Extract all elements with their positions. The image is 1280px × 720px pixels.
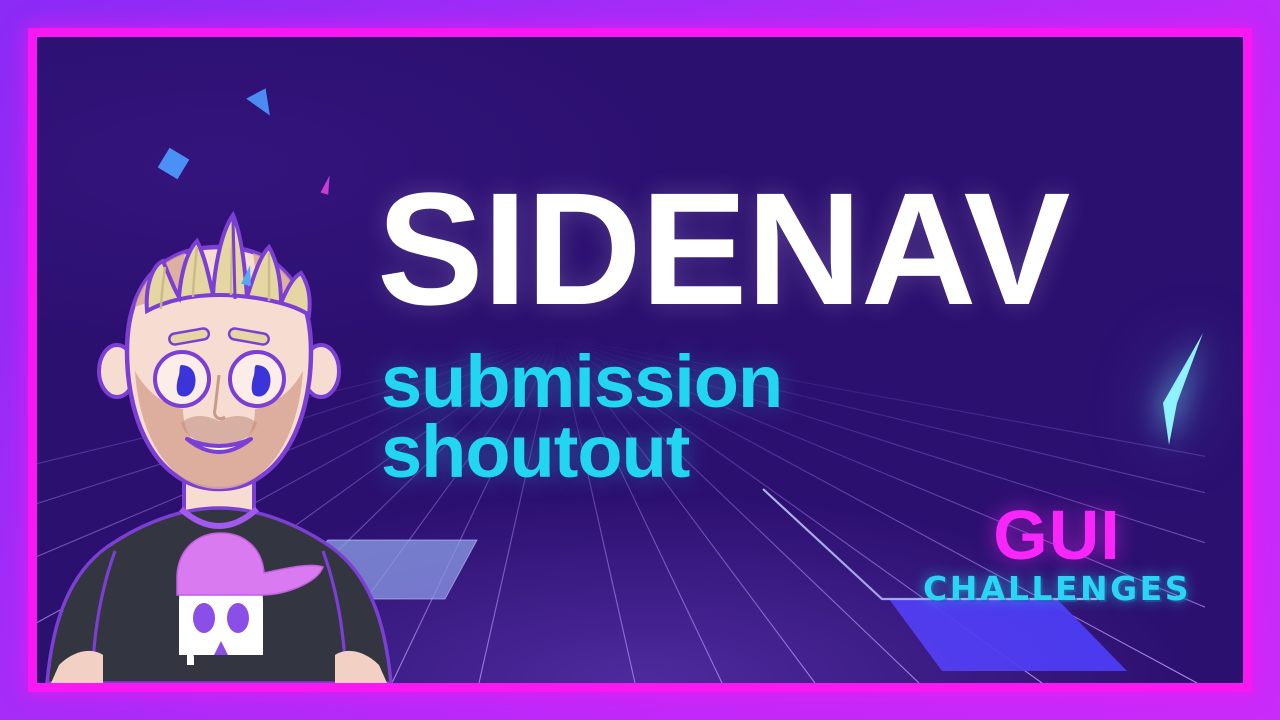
subtitle-line-2: shoutout [381,417,782,487]
neon-frame-border: SIDENAV submission shoutout GUI CHALLENG… [28,28,1252,692]
thumbnail-stage: SIDENAV submission shoutout GUI CHALLENG… [0,0,1280,720]
avatar-eye-left [155,352,209,406]
subtitle-line-1: submission [381,347,782,417]
lightning-shard-icon [1147,325,1217,455]
avatar-eye-right [230,352,284,406]
brand-primary-text: GUI [923,502,1191,569]
page-title: SIDENAV [377,169,1069,329]
screen-area: SIDENAV submission shoutout GUI CHALLENG… [37,37,1243,683]
brand-logo: GUI CHALLENGES [923,502,1191,606]
subtitle: submission shoutout [381,347,782,488]
presenter-avatar [37,203,409,683]
brand-secondary-text: CHALLENGES [923,572,1191,605]
